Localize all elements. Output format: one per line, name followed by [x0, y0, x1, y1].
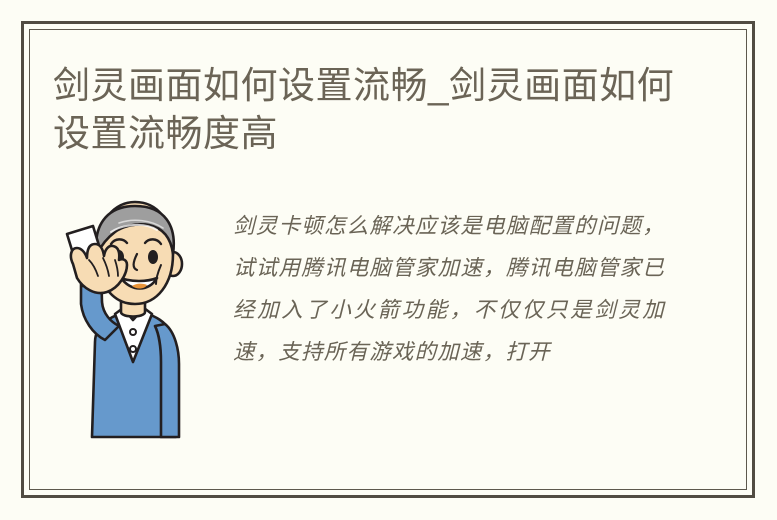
article-content: 剑灵卡顿怎么解决应该是电脑配置的问题，试试用腾讯电脑管家加速，腾讯电脑管家已经加…	[53, 192, 713, 457]
shirt-button-top	[130, 329, 136, 335]
illustration-elderly-man-on-phone	[53, 192, 213, 450]
hand	[71, 244, 127, 293]
shirt-button-bottom	[130, 346, 136, 352]
article-body: 剑灵卡顿怎么解决应该是电脑配置的问题，试试用腾讯电脑管家加速，腾讯电脑管家已经加…	[233, 206, 665, 374]
article-card: 剑灵画面如何设置流畅_剑灵画面如何设置流畅度高	[0, 0, 777, 520]
page-title: 剑灵画面如何设置流畅_剑灵画面如何设置流畅度高	[53, 62, 693, 158]
eye-right	[148, 250, 158, 264]
